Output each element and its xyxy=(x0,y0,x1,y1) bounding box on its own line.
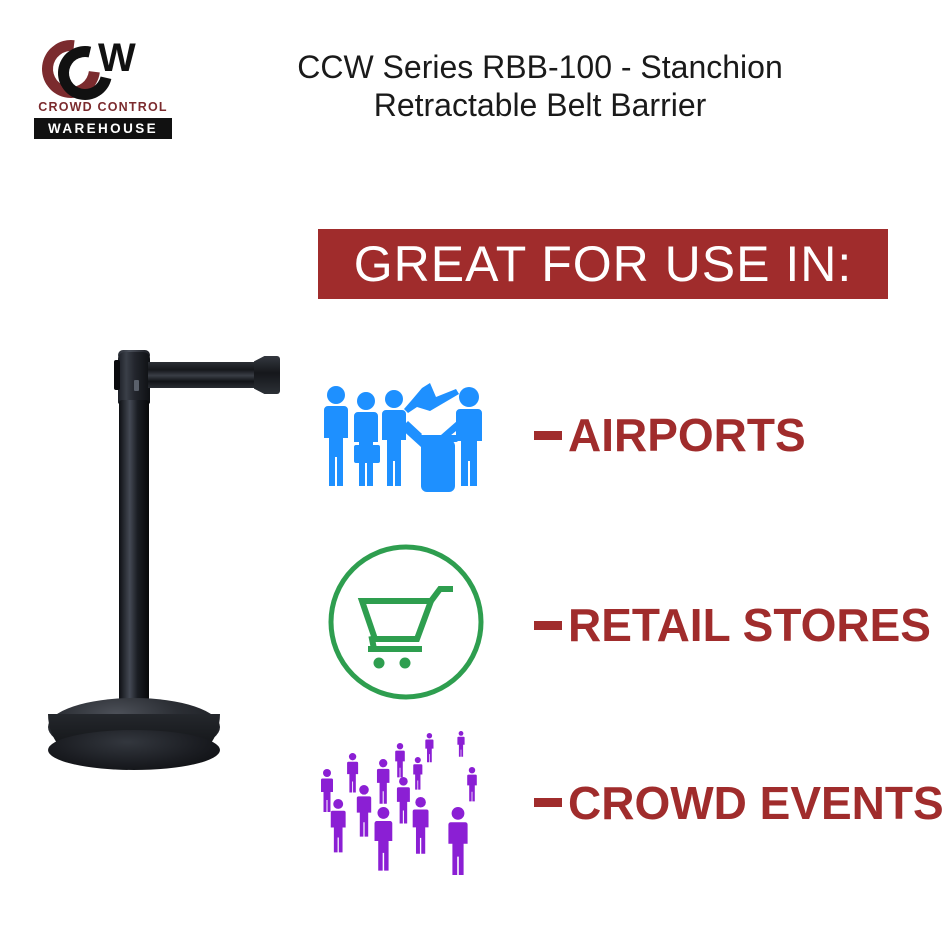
use-case-row-crowd: CROWD EVENTS xyxy=(318,725,944,880)
post-belt-slot xyxy=(114,360,120,390)
logo-w-letter: W xyxy=(98,38,134,78)
use-case-label-airports: AIRPORTS xyxy=(534,411,806,459)
great-for-use-in-banner: GREAT FOR USE IN: xyxy=(318,229,888,299)
brand-name-line2: WAREHOUSE xyxy=(48,121,158,136)
brand-logo: W CROWD CONTROL WAREHOUSE xyxy=(28,38,178,138)
shopping-cart-icon xyxy=(318,535,498,715)
use-case-row-retail: RETAIL STORES xyxy=(318,535,931,715)
airport-queue-icon xyxy=(318,365,498,505)
brand-name-bar: WAREHOUSE xyxy=(34,118,172,139)
post-head xyxy=(118,352,150,404)
crowd-people-icon xyxy=(318,725,508,880)
page-title: CCW Series RBB-100 - Stanchion Retractab… xyxy=(230,48,850,124)
dash-icon xyxy=(534,621,562,630)
brand-name-line1: CROWD CONTROL xyxy=(28,100,178,114)
use-case-label-retail-text: RETAIL STORES xyxy=(568,601,931,649)
product-photo-stanchion xyxy=(40,340,290,810)
dash-icon xyxy=(534,798,562,807)
belt-end-clip xyxy=(254,356,280,394)
use-case-label-crowd: CROWD EVENTS xyxy=(534,779,944,827)
use-case-row-airports: AIRPORTS xyxy=(318,365,806,505)
banner-text: GREAT FOR USE IN: xyxy=(354,238,853,290)
page-title-line1: CCW Series RBB-100 - Stanchion xyxy=(230,48,850,86)
use-case-label-airports-text: AIRPORTS xyxy=(568,411,806,459)
post-release-button xyxy=(134,380,139,391)
post-body xyxy=(119,400,149,722)
ccw-monogram-icon: W xyxy=(36,38,170,100)
use-case-label-crowd-text: CROWD EVENTS xyxy=(568,779,944,827)
page-title-line2: Retractable Belt Barrier xyxy=(230,86,850,124)
retractable-belt xyxy=(148,362,260,388)
product-marketing-image: W CROWD CONTROL WAREHOUSE CCW Series RBB… xyxy=(0,0,950,950)
dash-icon xyxy=(534,431,562,440)
use-case-label-retail: RETAIL STORES xyxy=(534,601,931,649)
post-base-face xyxy=(48,730,220,770)
